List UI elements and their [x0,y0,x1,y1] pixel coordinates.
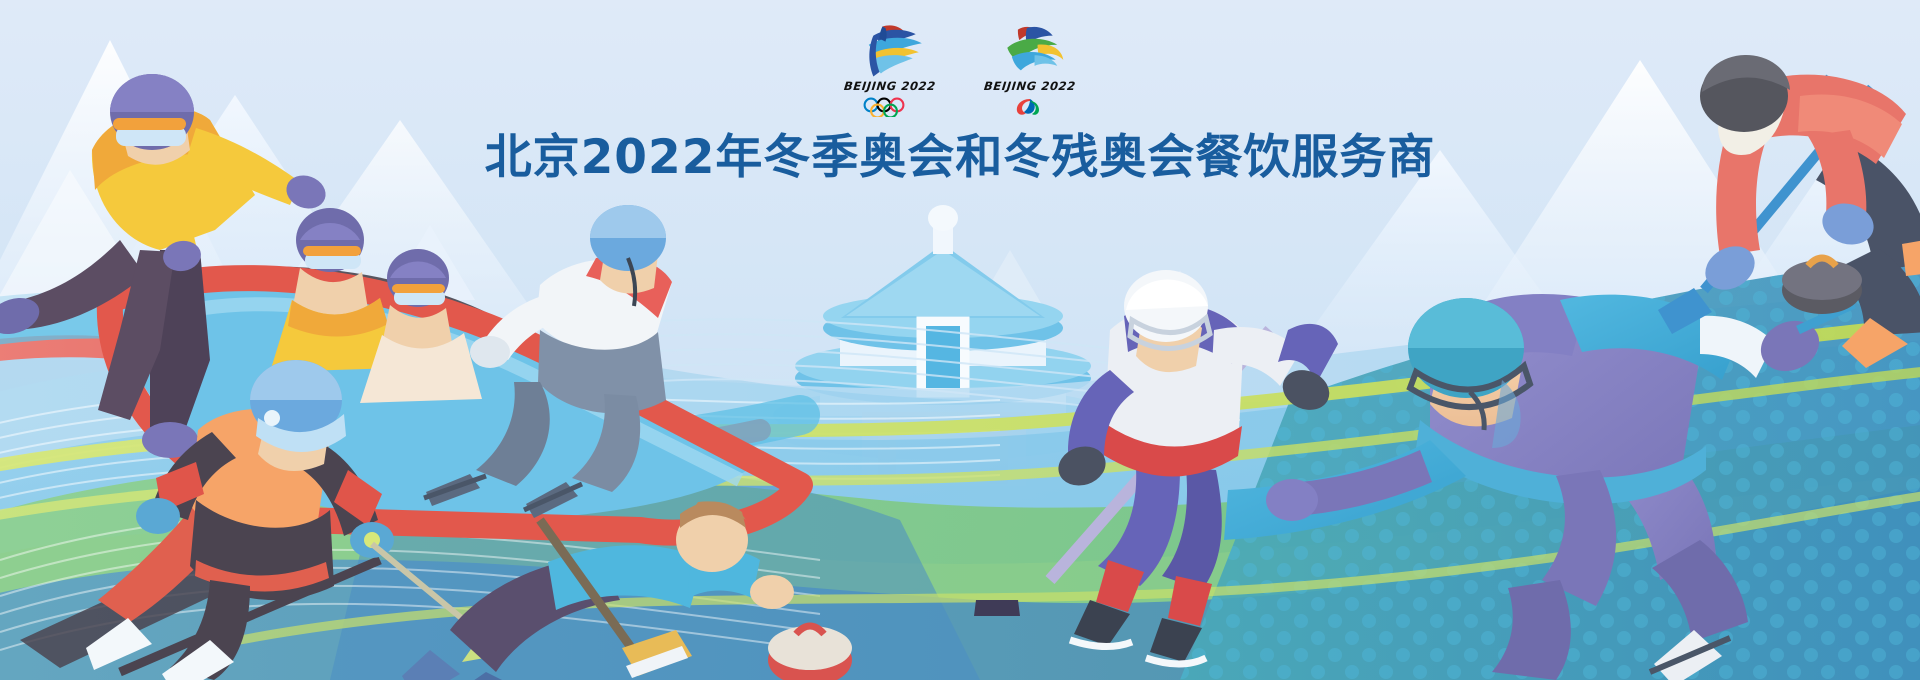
ice-hockey-player [974,270,1338,664]
olympic-banner: BEIJING 2022 [0,0,1920,680]
athletes-illustration [0,0,1920,680]
